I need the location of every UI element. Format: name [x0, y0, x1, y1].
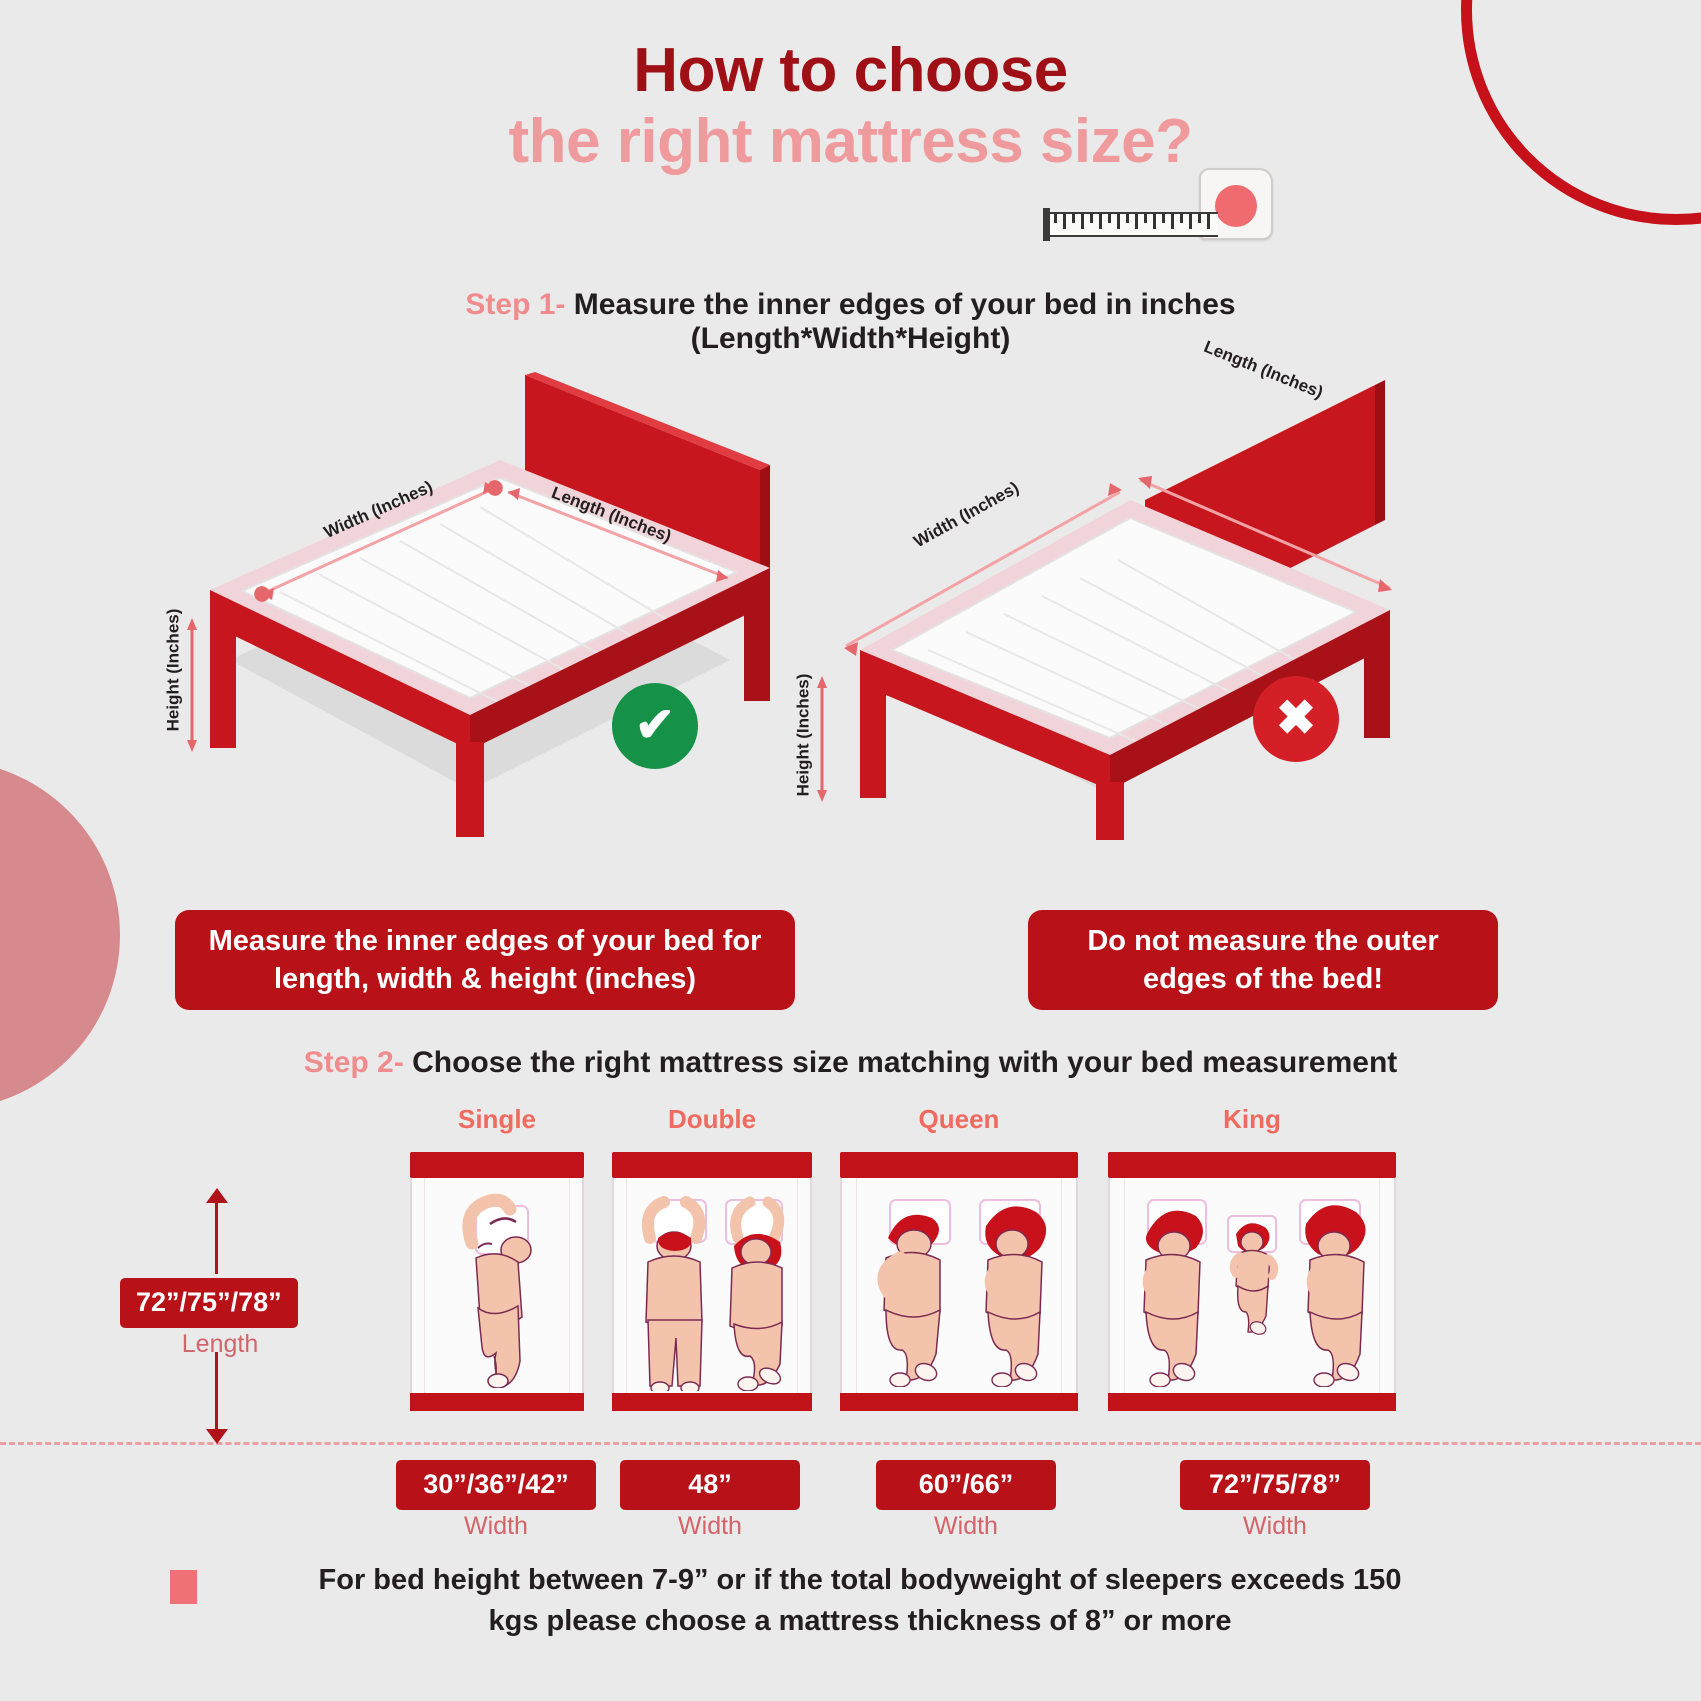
width-value-king: 72”/75/78”: [1180, 1460, 1370, 1510]
width-value-queen: 60”/66”: [876, 1460, 1056, 1510]
bed-diagram-correct: Width (Inches) Length (Inches) Height (I…: [170, 360, 790, 840]
footnote-line-2: kgs please choose a mattress thickness o…: [150, 1601, 1570, 1642]
decorative-dotted-divider: [0, 1442, 1701, 1445]
sleeper-figure: [1120, 1192, 1226, 1387]
step-1-heading: Step 1- Measure the inner edges of your …: [0, 288, 1701, 356]
size-label-single: Single: [410, 1104, 584, 1135]
width-value-double: 48”: [620, 1460, 800, 1510]
step-2-tag: Step 2-: [304, 1046, 404, 1079]
label-height-incorrect: Height (Inches): [793, 674, 813, 797]
footboard-king: [1108, 1393, 1396, 1411]
length-arrow-up: [215, 1196, 218, 1274]
label-height-correct: Height (Inches): [163, 609, 183, 732]
width-caption-double: Width: [620, 1512, 800, 1541]
mattress-king: [1108, 1178, 1396, 1393]
size-card-king[interactable]: King: [1108, 1152, 1396, 1411]
step-2-text: Choose the right mattress size matching …: [412, 1046, 1397, 1079]
length-arrowhead-down: [206, 1428, 228, 1444]
size-label-king: King: [1108, 1104, 1396, 1135]
mattress-double: [612, 1178, 812, 1393]
sleeper-figure: [442, 1188, 557, 1388]
footnote: For bed height between 7-9” or if the to…: [150, 1560, 1570, 1642]
callout-correct: Measure the inner edges of your bed for …: [175, 910, 795, 1010]
bed-diagram-incorrect: Width (Inches) Length (Inches) Height (I…: [800, 350, 1420, 840]
sleeper-figure: [712, 1186, 807, 1391]
sleeper-figure: [966, 1192, 1072, 1387]
page-title: How to choose the right mattress size?: [0, 38, 1701, 178]
mattress-single: [410, 1178, 584, 1393]
infographic-canvas: How to choose the right mattress size? S…: [0, 0, 1701, 1701]
sleeper-figure: [1288, 1192, 1394, 1387]
step-1-tag: Step 1-: [465, 288, 565, 321]
headboard-double: [612, 1152, 812, 1178]
size-label-queen: Queen: [840, 1104, 1078, 1135]
step-1-text: Measure the inner edges of your bed in i…: [574, 288, 1236, 321]
width-caption-king: Width: [1180, 1512, 1370, 1541]
callout-incorrect: Do not measure the outer edges of the be…: [1028, 910, 1498, 1010]
correct-check-badge: ✔: [612, 683, 698, 769]
title-line-2: the right mattress size?: [0, 105, 1701, 178]
tape-measure-hook: [1043, 208, 1050, 241]
length-value-box: 72”/75”/78”: [120, 1278, 298, 1328]
width-caption-single: Width: [396, 1512, 596, 1541]
footnote-line-1: For bed height between 7-9” or if the to…: [150, 1560, 1570, 1601]
baby-figure: [1214, 1210, 1294, 1340]
footboard-queen: [840, 1393, 1078, 1411]
sleeper-figure: [628, 1186, 720, 1391]
size-card-single[interactable]: Single: [410, 1152, 584, 1411]
size-label-double: Double: [612, 1104, 812, 1135]
mattress-queen: [840, 1178, 1078, 1393]
title-line-1: How to choose: [0, 38, 1701, 105]
size-card-double[interactable]: Double: [612, 1152, 812, 1411]
tape-measure-dial: [1215, 185, 1257, 227]
headboard-single: [410, 1152, 584, 1178]
footboard-double: [612, 1393, 812, 1411]
length-arrow-down: [215, 1352, 218, 1430]
length-arrowhead-up: [206, 1188, 228, 1204]
incorrect-cross-badge: ✖: [1253, 676, 1339, 762]
headboard-king: [1108, 1152, 1396, 1178]
footboard-single: [410, 1393, 584, 1411]
headboard-queen: [840, 1152, 1078, 1178]
sleeper-figure: [860, 1192, 966, 1387]
width-value-single: 30”/36”/42”: [396, 1460, 596, 1510]
tape-measure-strip: [1043, 212, 1218, 237]
step-2-heading: Step 2- Choose the right mattress size m…: [0, 1046, 1701, 1080]
tape-measure-icon: [1043, 168, 1273, 243]
width-caption-queen: Width: [876, 1512, 1056, 1541]
size-card-queen[interactable]: Queen: [840, 1152, 1078, 1411]
length-caption: Length: [120, 1330, 320, 1359]
